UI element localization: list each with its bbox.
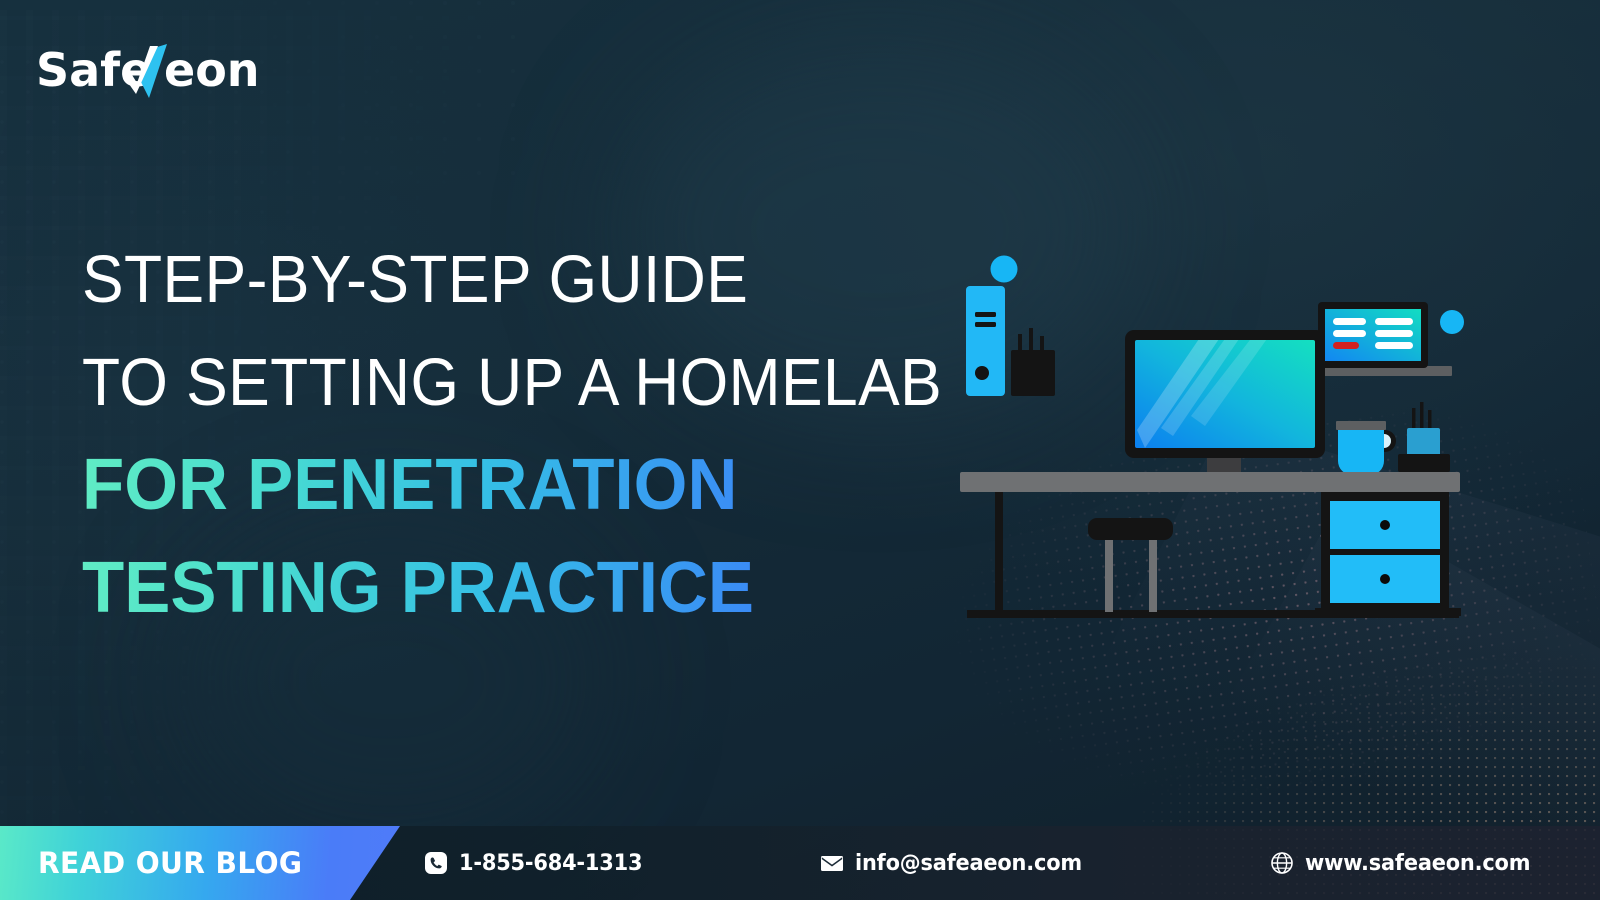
pencil-cup-body: [1407, 428, 1440, 456]
globe-icon: [1270, 851, 1294, 875]
headline-line-3: FOR PENETRATION: [82, 434, 927, 537]
desk-leg-left: [995, 492, 1003, 614]
phone-icon: [424, 851, 448, 875]
drawer-bottom-knob: [1380, 574, 1390, 584]
pencil-cup-base: [1398, 454, 1450, 472]
tower-case: [966, 286, 1005, 396]
stool: [1088, 518, 1173, 612]
drawer-cabinet: [1315, 492, 1461, 616]
headline-line-2: TO SETTING UP A HOMELAB: [82, 331, 900, 434]
headline-line-4: TESTING PRACTICE: [82, 537, 927, 640]
contact-email[interactable]: info@safeaeon.com: [820, 826, 1094, 900]
tower-power-button: [975, 366, 989, 380]
wall-shelf-laptop: [1307, 302, 1452, 376]
contact-phone[interactable]: 1-855-684-1313: [424, 826, 652, 900]
laptop-row-2-right: [1375, 330, 1413, 337]
stool-leg-right: [1149, 540, 1157, 612]
headline-block: STEP-BY-STEP GUIDE TO SETTING UP A HOMEL…: [82, 228, 962, 640]
drawer-top-knob: [1380, 520, 1390, 530]
stool-leg-left: [1105, 540, 1113, 612]
pen-cup: [1011, 350, 1055, 396]
laptop-row-3-left-alert: [1333, 342, 1359, 349]
logo-text-eon: eon: [164, 43, 260, 97]
tower-slot-2: [975, 322, 996, 327]
laptop-row-1-left: [1333, 318, 1366, 325]
email-address: info@safeaeon.com: [855, 851, 1082, 876]
laptop-row-3-right: [1375, 342, 1413, 349]
pencil-3: [1428, 410, 1432, 430]
pencil-cup: [1398, 402, 1450, 472]
laptop-row-2-left: [1333, 330, 1366, 337]
homelab-desk-illustration: [955, 240, 1485, 640]
mug-body: [1338, 427, 1384, 475]
read-our-blog-button[interactable]: READ OUR BLOG: [0, 826, 400, 900]
brand-logo[interactable]: Safe eon: [36, 40, 286, 96]
decorative-dot-large: [991, 256, 1018, 283]
footer-bar: READ OUR BLOG 1-855-684-1313 info@safeae…: [0, 826, 1600, 900]
laptop-row-1-right: [1375, 318, 1413, 325]
phone-number: 1-855-684-1313: [459, 851, 642, 876]
read-our-blog-label: READ OUR BLOG: [38, 846, 302, 880]
poster-canvas: Safe eon STEP-BY-STEP GUIDE TO SETTING U…: [0, 0, 1600, 900]
contact-website[interactable]: www.safeaeon.com: [1270, 826, 1542, 900]
desktop-monitor: [1125, 330, 1325, 485]
mug-rim: [1336, 421, 1386, 430]
headline-line-1: STEP-BY-STEP GUIDE: [82, 228, 900, 331]
website-url: www.safeaeon.com: [1305, 851, 1530, 876]
coffee-mug: [1336, 421, 1396, 475]
decorative-dot-small: [1440, 310, 1464, 334]
pen-holder: [1011, 328, 1055, 396]
cabinet-base: [1315, 608, 1461, 616]
tower-slot-1: [975, 312, 996, 317]
pc-tower: [966, 286, 1005, 396]
safeaeon-logo-svg: Safe eon: [36, 40, 286, 102]
envelope-icon: [820, 853, 844, 873]
stool-seat: [1088, 518, 1173, 540]
pencil-1: [1412, 408, 1416, 430]
desk-top: [960, 472, 1460, 492]
pencil-2: [1420, 402, 1424, 430]
